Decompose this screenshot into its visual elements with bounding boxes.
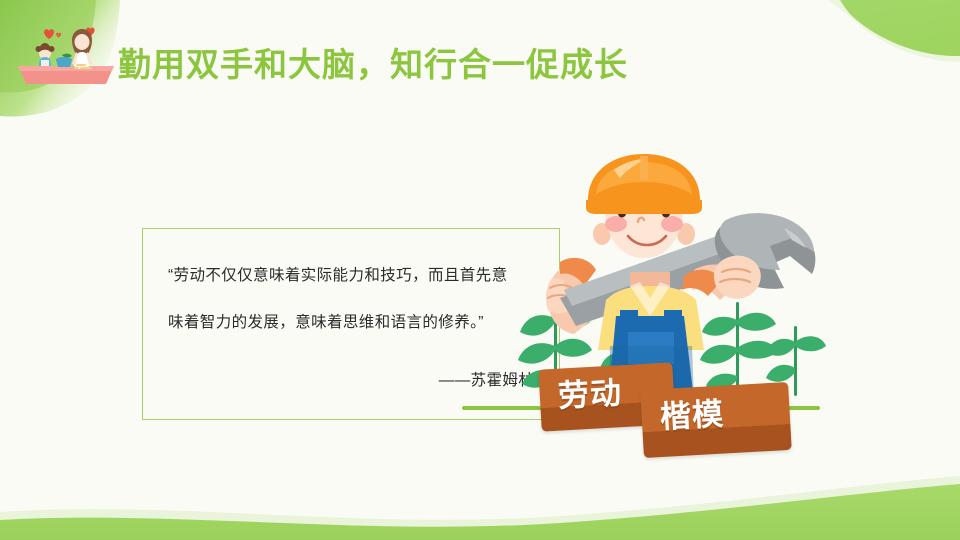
- bottom-wave-highlight: [0, 476, 960, 540]
- top-right-green-blob: [840, 0, 960, 56]
- bottom-wave-band: [0, 484, 960, 540]
- slide-canvas: 勤用双手和大脑，知行合一促成长 “劳动不仅仅意味着实际能力和技巧，而且首先意 味…: [0, 0, 960, 540]
- top-right-blob-highlight: [828, 0, 960, 62]
- mother-figure: [72, 29, 92, 69]
- wooden-sign-left-label: 劳动: [557, 377, 623, 412]
- mother-and-child-cooking-icon: [14, 22, 118, 86]
- wooden-sign-right-label: 楷模: [659, 398, 725, 433]
- worker-head: [586, 154, 702, 258]
- table-shape: [20, 70, 112, 84]
- wooden-sign-group: 劳动 楷模: [528, 358, 818, 468]
- page-title: 勤用双手和大脑，知行合一促成长: [118, 44, 628, 86]
- child-figure: [36, 43, 55, 66]
